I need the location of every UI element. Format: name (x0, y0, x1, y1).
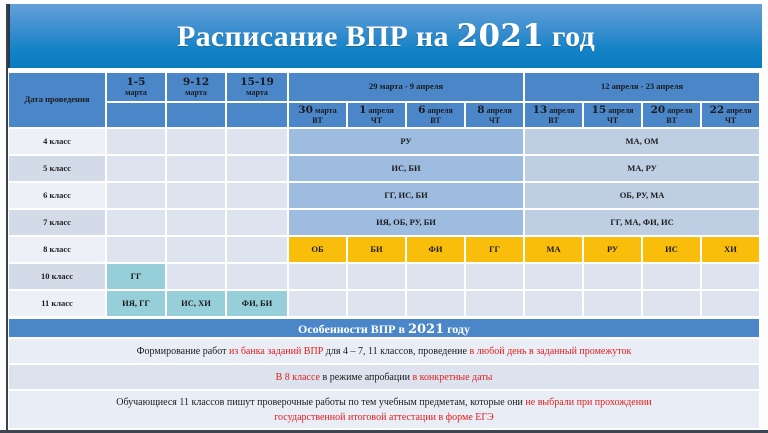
subheader-blank-1 (106, 102, 166, 128)
subject-cell-left: ИС, БИ (288, 155, 524, 182)
empty-cell (166, 209, 226, 236)
subject-cell-right: ОБ, РУ, МА (524, 182, 760, 209)
note-line-2: В 8 классе в режиме апробации в конкретн… (8, 364, 760, 390)
subject-cell-teal: ГГ (106, 263, 166, 290)
note3-part1: Обучающиеся 11 классов пишут проверочные… (116, 397, 525, 408)
empty-cell (106, 128, 166, 155)
table-row: 4 класс РУ МА, ОМ (8, 128, 760, 155)
subcolumn-header-8-apr: 8 апреля ЧТ (465, 102, 524, 128)
table-row: 5 класс ИС, БИ МА, РУ (8, 155, 760, 182)
subject-cell-highlight: БИ (347, 236, 406, 263)
table-row: 10 класс ГГ (8, 263, 760, 290)
notes-banner-after: году (444, 322, 470, 336)
subcol-month: апреля (549, 106, 574, 115)
subject-cell-highlight: МА (524, 236, 583, 263)
empty-cell (166, 182, 226, 209)
subcol-day: 15 (592, 104, 607, 116)
group-header-right: 12 апреля - 23 апреля (524, 72, 760, 102)
empty-cell (465, 263, 524, 290)
schedule-poster: Расписание ВПР на 2021 год Дата проведен… (0, 0, 768, 433)
subcol-weekday: ЧТ (702, 116, 759, 125)
empty-cell (226, 128, 288, 155)
note1-part2: для 4 – 7, 11 классов, проведение (323, 346, 469, 357)
column-header-mar-15-19: 15-19 марта (226, 72, 288, 102)
subcol-weekday: ЧТ (466, 116, 523, 125)
page-title: Расписание ВПР на 2021 год (177, 18, 595, 54)
empty-cell (166, 128, 226, 155)
empty-cell (166, 236, 226, 263)
subject-cell-left: ГГ, ИС, БИ (288, 182, 524, 209)
subcol-month: апреля (667, 106, 692, 115)
subcolumn-header-1-apr: 1 апреля ЧТ (347, 102, 406, 128)
subject-cell-teal: ИЯ, ГГ (106, 290, 166, 317)
empty-cell (406, 263, 465, 290)
empty-cell (166, 155, 226, 182)
subcol-month: апреля (726, 106, 751, 115)
subject-cell-right: МА, ОМ (524, 128, 760, 155)
table-row: 7 класс ИЯ, ОБ, РУ, БИ ГГ, МА, ФИ, ИС (8, 209, 760, 236)
subject-cell-highlight: ИС (642, 236, 701, 263)
row-label-grade-7: 7 класс (8, 209, 106, 236)
subcolumn-header-20-apr: 20 апреля ВТ (642, 102, 701, 128)
row-label-grade-4: 4 класс (8, 128, 106, 155)
subject-cell-left: РУ (288, 128, 524, 155)
subcol-month: марта (315, 106, 337, 115)
table-row: 8 класс ОБ БИ ФИ ГГ МА РУ ИС ХИ (8, 236, 760, 263)
empty-cell (642, 290, 701, 317)
subject-cell-teal: ИС, ХИ (166, 290, 226, 317)
empty-cell (583, 290, 642, 317)
note1-highlight2: в любой день в заданный промежуток (469, 346, 631, 357)
row-label-grade-10: 10 класс (8, 263, 106, 290)
empty-cell (524, 263, 583, 290)
col-range: 9-12 (167, 77, 225, 89)
subject-cell-highlight: ФИ (406, 236, 465, 263)
note2-highlight1: В 8 классе (276, 372, 320, 383)
empty-cell (226, 209, 288, 236)
note2-highlight2: в конкретные даты (412, 372, 492, 383)
subcol-month: апреля (368, 106, 393, 115)
empty-cell (166, 263, 226, 290)
subcol-weekday: ВТ (643, 116, 700, 125)
subject-cell-highlight: РУ (583, 236, 642, 263)
subject-cell-teal: ФИ, БИ (226, 290, 288, 317)
note2-part1: в режиме апробации (320, 372, 412, 383)
subcol-day: 1 (359, 104, 366, 116)
col-month: марта (167, 88, 225, 97)
subcol-weekday: ВТ (525, 116, 582, 125)
note3-highlight2: государственной итоговой аттестации в фо… (274, 412, 494, 423)
subcolumn-header-13-apr: 13 апреля ВТ (524, 102, 583, 128)
notes-banner-before: Особенности ВПР в (298, 322, 408, 336)
subject-cell-left: ИЯ, ОБ, РУ, БИ (288, 209, 524, 236)
empty-cell (642, 263, 701, 290)
empty-cell (226, 263, 288, 290)
table-row: 11 класс ИЯ, ГГ ИС, ХИ ФИ, БИ (8, 290, 760, 317)
row-label-grade-6: 6 класс (8, 182, 106, 209)
empty-cell (701, 290, 760, 317)
empty-cell (226, 236, 288, 263)
subheader-blank-2 (166, 102, 226, 128)
empty-cell (465, 290, 524, 317)
empty-cell (701, 263, 760, 290)
row-label-grade-11: 11 класс (8, 290, 106, 317)
title-text-after: год (544, 20, 595, 53)
subcol-weekday: ВТ (289, 116, 346, 125)
note1-part1: Формирование работ (137, 346, 229, 357)
title-banner: Расписание ВПР на 2021 год (8, 4, 762, 68)
subject-cell-right: ГГ, МА, ФИ, ИС (524, 209, 760, 236)
note-line-1: Формирование работ из банка заданий ВПР … (8, 338, 760, 364)
col-range: 1-5 (107, 77, 165, 89)
note1-highlight1: из банка заданий ВПР (229, 346, 323, 357)
subcol-month: апреля (487, 106, 512, 115)
subcol-weekday: ВТ (407, 116, 464, 125)
subject-cell-highlight: ГГ (465, 236, 524, 263)
subcol-day: 22 (710, 104, 725, 116)
schedule-table: Дата проведения 1-5 марта 9-12 марта 15-… (8, 72, 760, 317)
column-header-mar-1-5: 1-5 марта (106, 72, 166, 102)
row-header-title: Дата проведения (8, 72, 106, 128)
empty-cell (106, 209, 166, 236)
empty-cell (347, 290, 406, 317)
subcol-day: 30 (298, 104, 313, 116)
subcol-day: 6 (418, 104, 425, 116)
empty-cell (226, 182, 288, 209)
subcolumn-header-6-apr: 6 апреля ВТ (406, 102, 465, 128)
subcol-day: 20 (651, 104, 666, 116)
notes-banner: Особенности ВПР в 2021 году (8, 318, 760, 338)
col-range: 15-19 (227, 77, 287, 89)
col-month: марта (107, 88, 165, 97)
subcolumn-header-15-apr: 15 апреля ЧТ (583, 102, 642, 128)
notes-section: Особенности ВПР в 2021 году Формирование… (8, 318, 760, 429)
subject-cell-right: МА, РУ (524, 155, 760, 182)
notes-banner-year: 2021 (408, 322, 444, 337)
empty-cell (106, 236, 166, 263)
empty-cell (583, 263, 642, 290)
table-header-row-secondary: 30 марта ВТ 1 апреля ЧТ 6 апреля ВТ 8 (8, 102, 760, 128)
empty-cell (226, 155, 288, 182)
subcol-day: 13 (533, 104, 548, 116)
empty-cell (347, 263, 406, 290)
table-header-row-primary: Дата проведения 1-5 марта 9-12 марта 15-… (8, 72, 760, 102)
subcol-month: апреля (427, 106, 452, 115)
group-header-left: 29 марта - 9 апреля (288, 72, 524, 102)
subcol-month: апреля (608, 106, 633, 115)
subject-cell-highlight: ОБ (288, 236, 347, 263)
row-label-grade-8: 8 класс (8, 236, 106, 263)
note3-highlight1: не выбрали при прохождении (525, 397, 651, 408)
empty-cell (288, 290, 347, 317)
empty-cell (406, 290, 465, 317)
row-label-grade-5: 5 класс (8, 155, 106, 182)
empty-cell (524, 290, 583, 317)
subheader-blank-3 (226, 102, 288, 128)
subcol-weekday: ЧТ (348, 116, 405, 125)
column-header-mar-9-12: 9-12 марта (166, 72, 226, 102)
note-line-3: Обучающиеся 11 классов пишут проверочные… (8, 390, 760, 429)
subject-cell-highlight: ХИ (701, 236, 760, 263)
subcol-day: 8 (477, 104, 484, 116)
subcolumn-header-30-mar: 30 марта ВТ (288, 102, 347, 128)
subcol-weekday: ЧТ (584, 116, 641, 125)
table-row: 6 класс ГГ, ИС, БИ ОБ, РУ, МА (8, 182, 760, 209)
title-year: 2021 (457, 18, 544, 54)
col-month: марта (227, 88, 287, 97)
subcolumn-header-22-apr: 22 апреля ЧТ (701, 102, 760, 128)
empty-cell (106, 182, 166, 209)
title-text-before: Расписание ВПР на (177, 20, 457, 53)
empty-cell (106, 155, 166, 182)
empty-cell (288, 263, 347, 290)
